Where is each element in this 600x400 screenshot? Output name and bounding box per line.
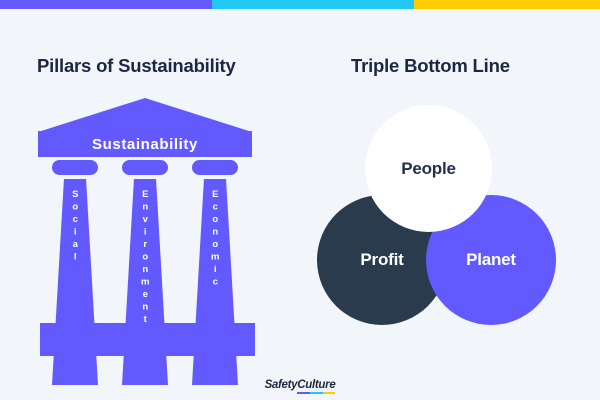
logo-underline-yellow xyxy=(323,392,336,394)
triple-bottom-line-venn-diagram: Profit Planet People xyxy=(300,95,580,335)
logo-text-safety: Safety xyxy=(265,379,298,391)
temple-roof-triangle xyxy=(38,98,252,132)
venn-label-planet: Planet xyxy=(466,250,516,270)
temple-pediment: Sustainability xyxy=(38,98,252,158)
logo-underline xyxy=(297,392,335,394)
sustainability-temple-graphic: Sustainability Social Environmental Econ… xyxy=(30,98,260,356)
pillar-capital-icon xyxy=(122,160,168,175)
logo-underline-cyan xyxy=(310,392,323,394)
venn-circle-people: People xyxy=(365,105,492,232)
venn-label-people: People xyxy=(401,159,456,179)
temple-base xyxy=(40,323,255,356)
pediment-label: Sustainability xyxy=(92,136,198,153)
pillars-panel-title: Pillars of Sustainability xyxy=(37,55,236,77)
pillar-label-economic: Economic xyxy=(210,189,220,289)
venn-label-profit: Profit xyxy=(360,250,403,270)
triple-bottom-line-panel-title: Triple Bottom Line xyxy=(351,55,510,77)
pillar-capital-icon xyxy=(192,160,238,175)
accent-segment-yellow xyxy=(414,0,600,9)
accent-segment-cyan xyxy=(212,0,414,9)
temple-entablature: Sustainability xyxy=(38,131,252,157)
pillar-label-social: Social xyxy=(70,189,80,264)
accent-segment-purple xyxy=(0,0,212,9)
pillar-capital-icon xyxy=(52,160,98,175)
logo-underline-purple xyxy=(297,392,310,394)
safetyculture-logo: Safety Culture xyxy=(0,379,600,391)
top-accent-bar xyxy=(0,0,600,9)
logo-text-culture: Culture xyxy=(297,379,335,391)
